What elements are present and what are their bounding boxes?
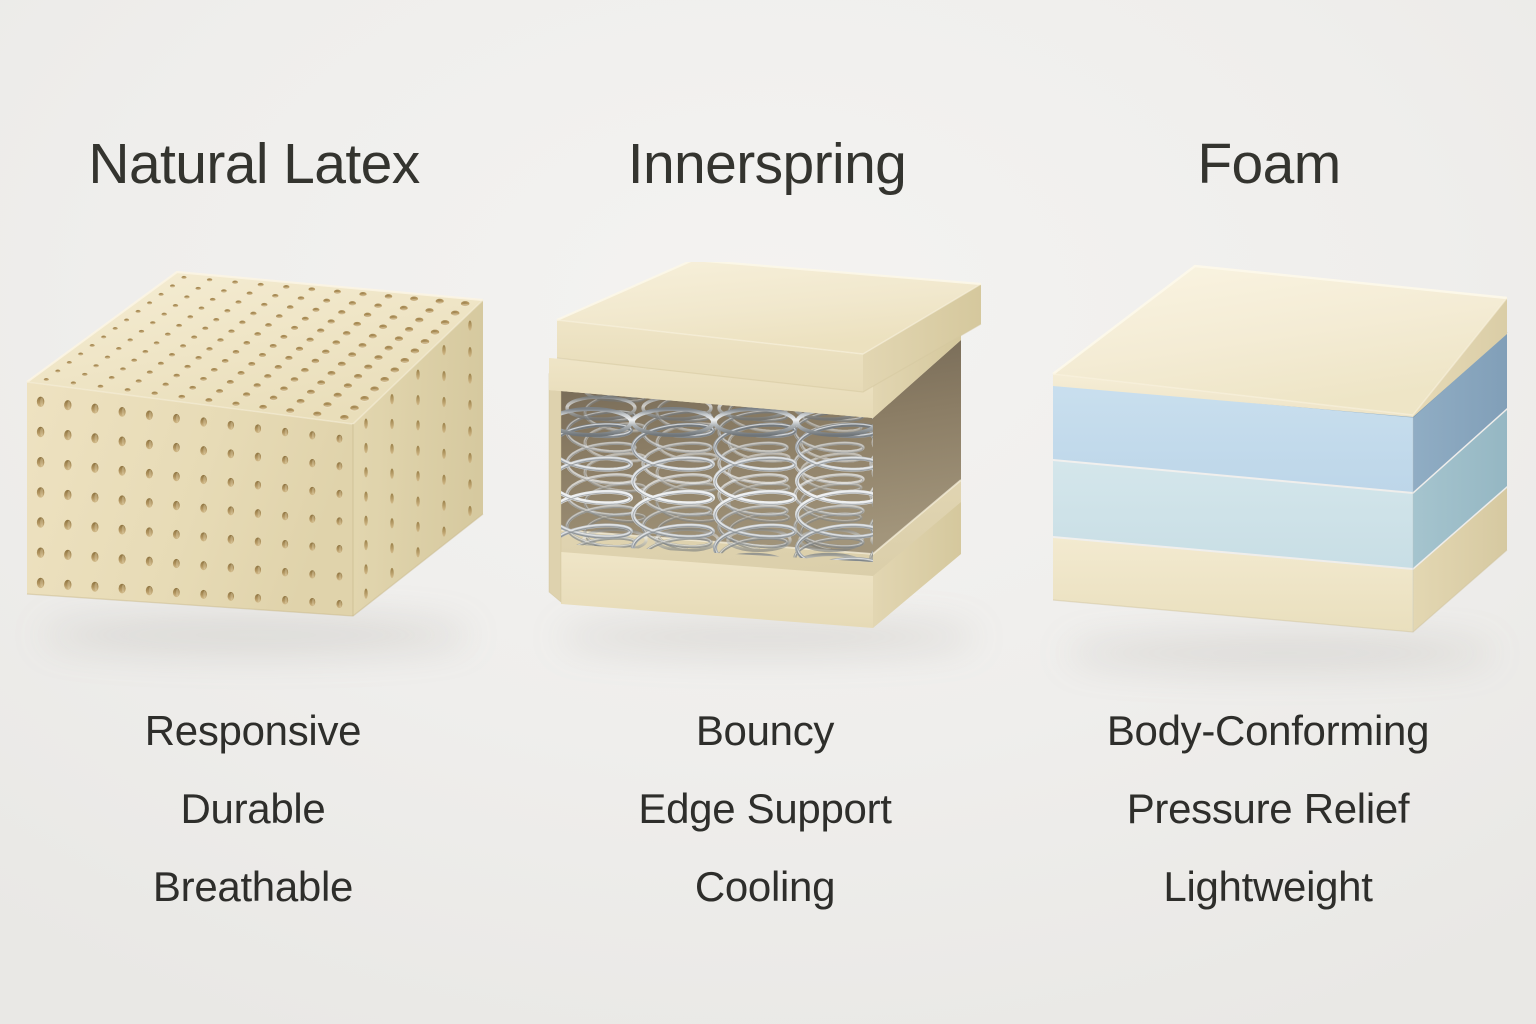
latex-hole <box>468 320 472 330</box>
latex-hole <box>390 444 394 454</box>
feature-item: Lightweight <box>1012 848 1524 926</box>
innerspring-frame-walls <box>549 374 561 602</box>
latex-hole <box>390 419 394 429</box>
latex-hole <box>364 516 368 526</box>
latex-hole <box>468 347 472 357</box>
feature-item: Bouncy <box>509 692 1021 770</box>
foam-svg <box>1045 256 1515 666</box>
latex-hole <box>442 475 446 485</box>
latex-hole <box>468 506 472 516</box>
latex-hole <box>442 526 446 536</box>
latex-hole <box>364 443 368 453</box>
feature-item: Edge Support <box>509 770 1021 848</box>
latex-hole <box>364 419 368 429</box>
latex-hole <box>416 547 420 557</box>
latex-hole <box>390 543 394 553</box>
latex-hole <box>416 471 420 481</box>
feature-item: Responsive <box>0 692 509 770</box>
feature-item: Body-Conforming <box>1012 692 1524 770</box>
latex-hole <box>468 453 472 463</box>
latex-hole <box>416 420 420 430</box>
latex-hole <box>442 501 446 511</box>
latex-hole <box>442 371 446 381</box>
feature-item: Breathable <box>0 848 509 926</box>
illustration-foam <box>1024 250 1536 670</box>
latex-hole <box>390 394 394 404</box>
latex-hole <box>390 568 394 578</box>
column-title-foam: Foam <box>1013 131 1525 197</box>
latex-hole <box>364 589 368 599</box>
feature-item: Pressure Relief <box>1012 770 1524 848</box>
innerspring-svg <box>543 262 993 662</box>
column-innerspring: Innerspring <box>512 0 1024 1024</box>
latex-hole <box>416 395 420 405</box>
feature-list-innerspring: Bouncy Edge Support Cooling <box>509 692 1021 926</box>
latex-hole <box>390 469 394 479</box>
latex-hole <box>364 491 368 501</box>
column-natural-latex: Natural Latex <box>0 0 512 1024</box>
latex-hole <box>442 449 446 459</box>
latex-hole <box>364 564 368 574</box>
latex-cube-svg <box>21 264 491 664</box>
latex-cube <box>21 264 491 664</box>
column-foam: Foam <box>1024 0 1536 1024</box>
illustration-innerspring <box>512 250 1024 670</box>
column-title-natural-latex: Natural Latex <box>0 131 510 197</box>
feature-list-natural-latex: Responsive Durable Breathable <box>0 692 509 926</box>
latex-hole <box>416 496 420 506</box>
feature-item: Durable <box>0 770 509 848</box>
latex-hole <box>442 397 446 407</box>
latex-hole <box>364 467 368 477</box>
latex-hole <box>390 493 394 503</box>
foam-block <box>1045 256 1515 671</box>
latex-hole <box>442 345 446 355</box>
feature-list-foam: Body-Conforming Pressure Relief Lightwei… <box>1012 692 1524 926</box>
latex-hole <box>468 426 472 436</box>
feature-item: Cooling <box>509 848 1021 926</box>
latex-hole <box>468 400 472 410</box>
latex-hole <box>390 518 394 528</box>
latex-hole <box>416 522 420 532</box>
latex-hole <box>416 446 420 456</box>
latex-hole <box>364 540 368 550</box>
innerspring-block <box>543 262 993 667</box>
column-title-innerspring: Innerspring <box>511 131 1023 197</box>
latex-hole <box>416 370 420 380</box>
latex-hole <box>442 423 446 433</box>
latex-hole <box>468 373 472 383</box>
material-comparison-board: Natural Latex <box>0 0 1536 1024</box>
latex-hole <box>468 479 472 489</box>
illustration-natural-latex <box>0 250 512 670</box>
